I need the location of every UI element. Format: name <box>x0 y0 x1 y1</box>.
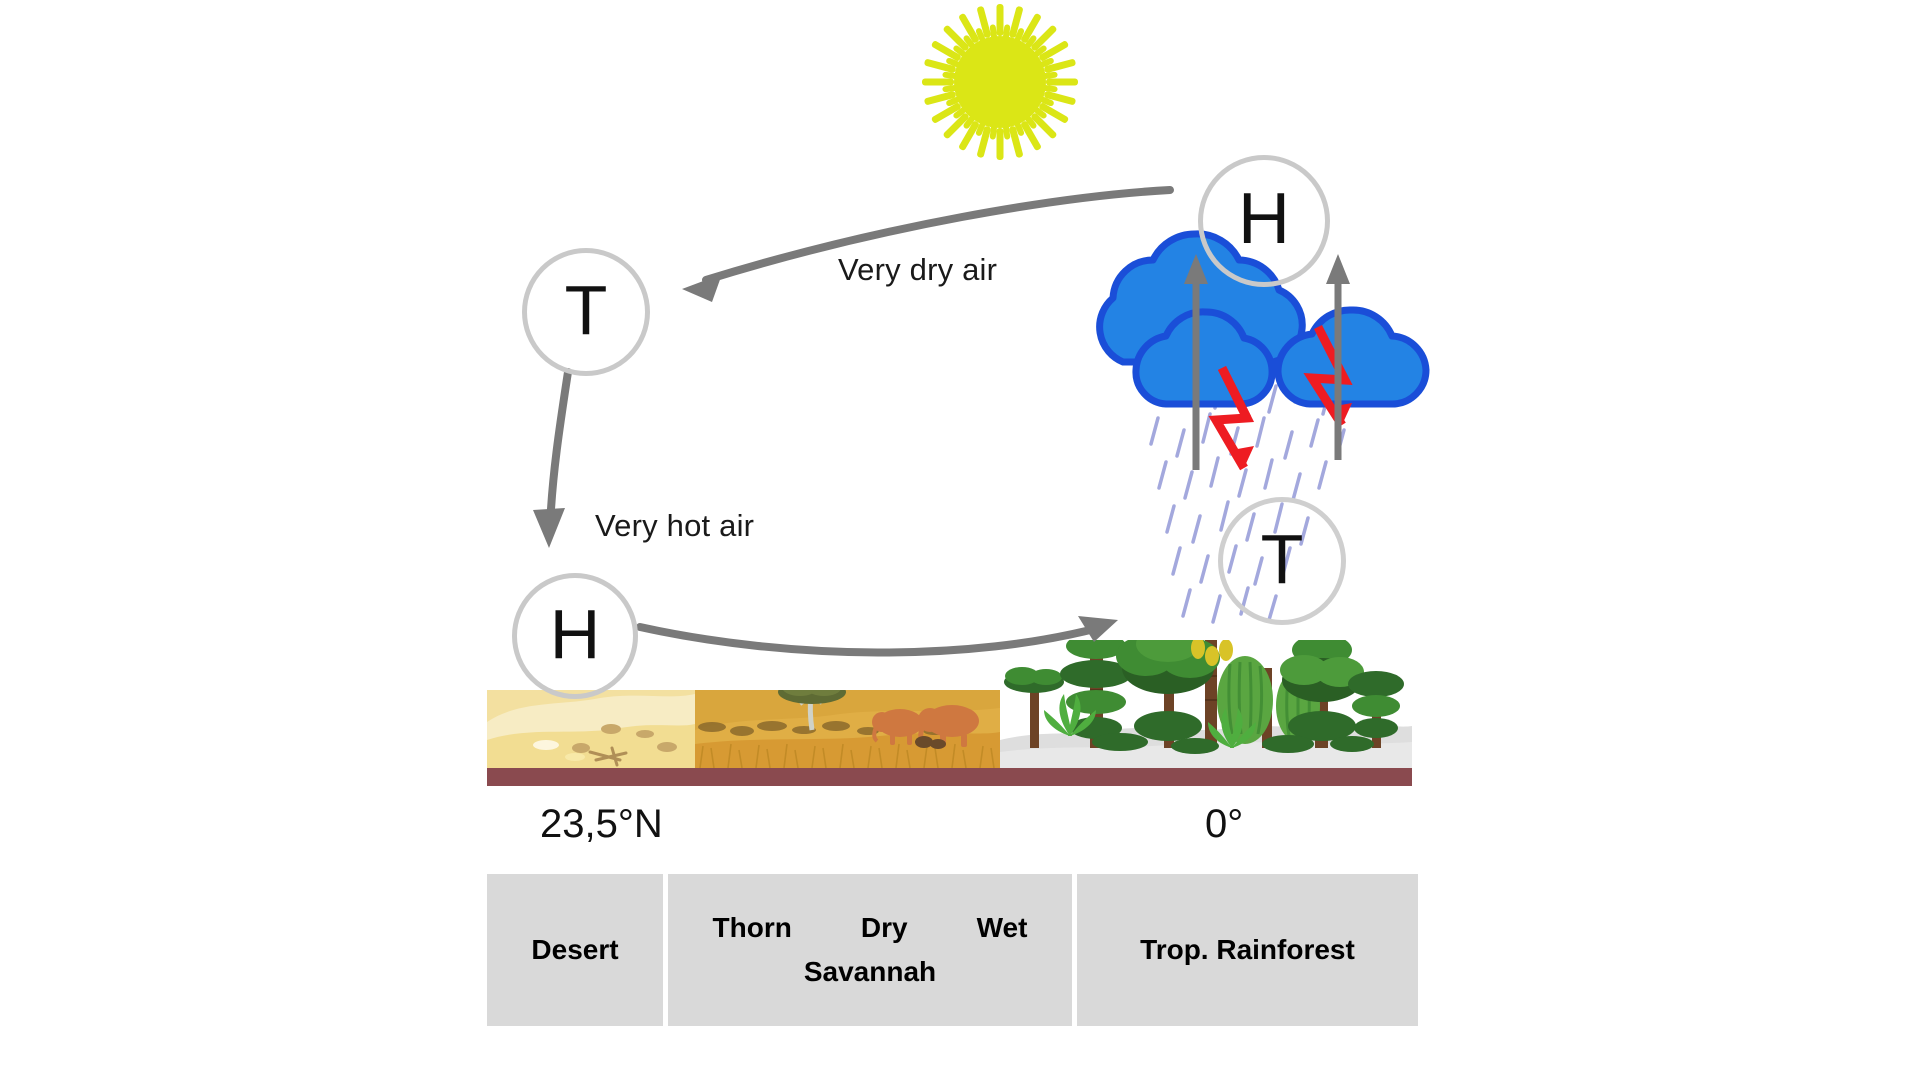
latitude-label-equator: 0° <box>1205 802 1243 847</box>
savannah-terrain <box>695 678 1000 768</box>
latitude-label-23-5-n: 23,5°N <box>540 802 663 847</box>
forest-tree-icon <box>1348 671 1404 738</box>
forest-tree-icon <box>1004 667 1064 693</box>
flow-label-very-hot-air: Very hot air <box>595 508 754 544</box>
flow-label-very-dry-air: Very dry air <box>838 252 997 288</box>
zone-box-rainforest[interactable]: Trop. Rainforest <box>1077 874 1418 1026</box>
zone-label-savannah-types: Thorn Dry Wet <box>678 910 1062 946</box>
pressure-marker-upper-low: T <box>522 248 650 376</box>
zone-box-savannah[interactable]: Thorn Dry Wet Savannah <box>668 874 1072 1026</box>
sun-icon <box>922 4 1078 160</box>
desert-terrain <box>487 690 695 768</box>
pressure-marker-letter: T <box>565 275 608 345</box>
diagram-canvas: H T H T Very dry air Very hot air 23,5°N… <box>0 0 1920 1080</box>
zone-label-savannah: Savannah <box>804 954 936 990</box>
pressure-marker-upper-high: H <box>1198 155 1330 287</box>
pressure-marker-surface-high: H <box>512 573 638 699</box>
pressure-marker-surface-low: T <box>1218 497 1346 625</box>
savannah-type-thorn: Thorn <box>713 910 792 946</box>
pressure-marker-letter: T <box>1261 524 1304 594</box>
surface-flow-arrow <box>640 627 1102 653</box>
rainforest-terrain <box>1000 592 1412 768</box>
pressure-marker-letter: H <box>1238 183 1290 255</box>
zone-label: Desert <box>531 932 618 968</box>
zone-box-desert[interactable]: Desert <box>487 874 663 1026</box>
zone-label: Trop. Rainforest <box>1140 932 1355 968</box>
pressure-marker-letter: H <box>550 599 601 669</box>
savannah-type-dry: Dry <box>861 910 908 946</box>
subsidence-arrow <box>550 372 568 528</box>
savannah-type-wet: Wet <box>977 910 1028 946</box>
